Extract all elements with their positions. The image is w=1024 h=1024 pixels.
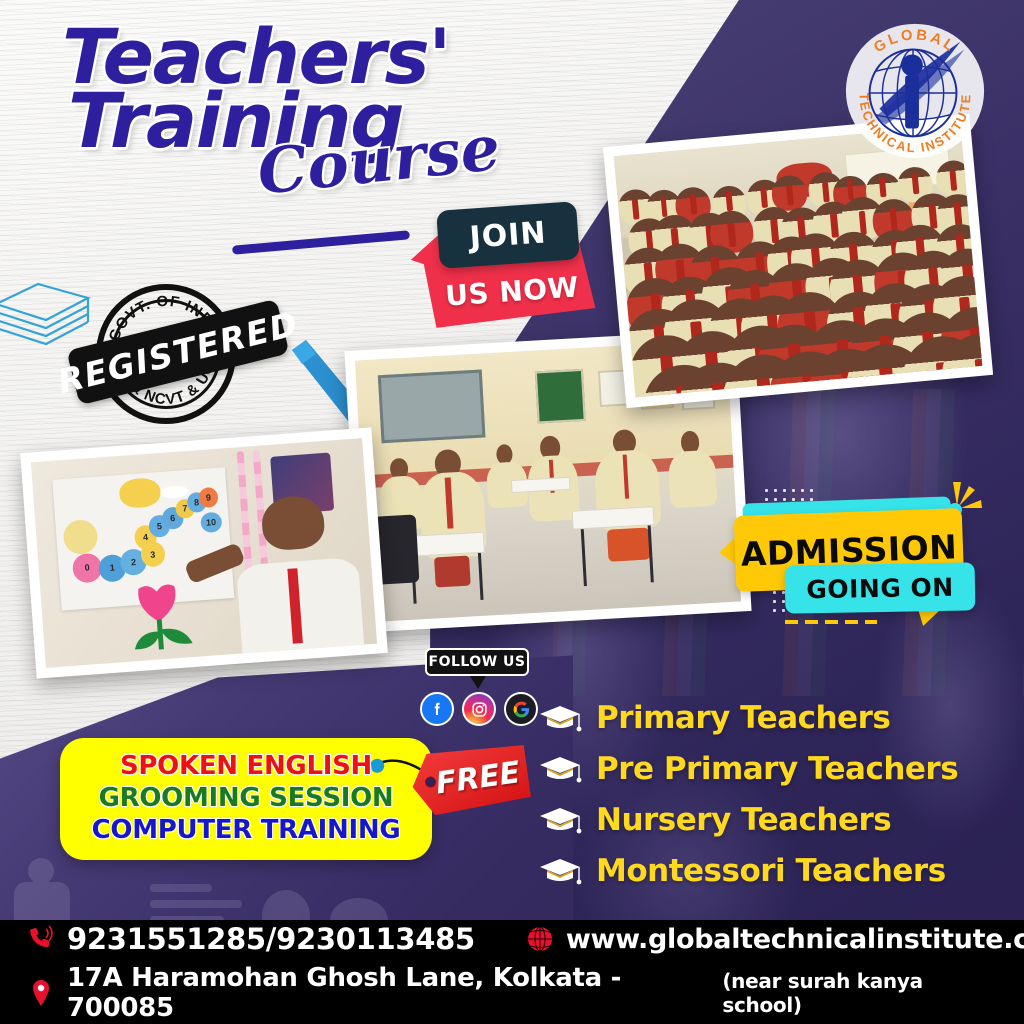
- registered-stamp: GOVT. OF INDIA BSS & NCVT & UGC REGISTER…: [74, 278, 286, 428]
- join-bubble: JOIN: [436, 201, 580, 269]
- graduation-cap-icon: [538, 754, 582, 784]
- footer-address: 17A Haramohan Ghosh Lane, Kolkata - 7000…: [67, 963, 711, 1023]
- course-label-nursery: Nursery Teachers: [596, 802, 891, 838]
- graduation-cap-icon: [538, 856, 582, 886]
- course-label-primary: Primary Teachers: [596, 700, 890, 736]
- course-item-primary: Primary Teachers: [538, 692, 998, 743]
- course-list: Primary Teachers Pre Primary Teachers Nu…: [538, 692, 998, 896]
- montessori-photo-image: 0 1 2 3 4 5 6 7 8 9 10: [31, 438, 377, 668]
- join-now-ribbon: US NOW: [430, 258, 593, 323]
- globe-icon: [525, 924, 555, 954]
- paper-tulip-decor: [126, 579, 201, 658]
- location-pin-icon: [26, 978, 56, 1008]
- phone-icon: [26, 924, 56, 954]
- footer-phone[interactable]: 9231551285/9230113485: [67, 922, 475, 956]
- follow-us-block: FOLLOW US: [420, 648, 540, 732]
- graduation-cap-icon: [538, 805, 582, 835]
- graduation-cap-icon: [538, 703, 582, 733]
- facebook-icon[interactable]: [420, 692, 454, 726]
- poster-title: Teachers' Training Course: [62, 22, 582, 209]
- footer-contact-bar: 9231551285/9230113485 www.globaltechnica…: [0, 920, 1024, 1024]
- follow-us-label: FOLLOW US: [429, 654, 526, 670]
- course-item-pre-primary: Pre Primary Teachers: [538, 743, 998, 794]
- footer-row-address: 17A Haramohan Ghosh Lane, Kolkata - 7000…: [26, 963, 998, 1023]
- going-on-label: GOING ON: [806, 572, 954, 604]
- course-item-nursery: Nursery Teachers: [538, 794, 998, 845]
- footer-address-note: (near surah kanya school): [722, 969, 998, 1017]
- course-label-pre-primary: Pre Primary Teachers: [596, 751, 958, 787]
- google-icon[interactable]: [504, 692, 538, 726]
- join-us-now-badge[interactable]: JOIN US NOW: [424, 206, 604, 338]
- going-on-tag: GOING ON: [785, 562, 976, 613]
- teacher-figure: [223, 488, 367, 654]
- admission-badge[interactable]: ADMISSION GOING ON: [735, 486, 987, 622]
- offer-grooming-session: GROOMING SESSION: [99, 783, 394, 815]
- follow-us-bubble: FOLLOW US: [425, 648, 529, 676]
- poster-root: GLOBAL TECHNICAL INSTITUTE Teachers' Tra…: [0, 0, 1024, 1024]
- montessori-photo: 0 1 2 3 4 5 6 7 8 9 10: [20, 427, 388, 678]
- course-item-montessori: Montessori Teachers: [538, 845, 998, 896]
- follow-bubble-tail: [470, 676, 486, 689]
- join-label: JOIN: [468, 215, 547, 255]
- course-label-montessori: Montessori Teachers: [596, 853, 946, 889]
- join-now-label: US NOW: [444, 270, 580, 312]
- offer-computer-training: COMPUTER TRAINING: [92, 815, 401, 847]
- dash-decor: [785, 620, 877, 624]
- instagram-icon[interactable]: [462, 692, 496, 726]
- global-technical-institute-logo: GLOBAL TECHNICAL INSTITUTE: [836, 14, 994, 166]
- footer-row-primary: 9231551285/9230113485 www.globaltechnica…: [26, 921, 998, 957]
- footer-website[interactable]: www.globaltechnicalinstitute.com: [566, 924, 1024, 955]
- social-icons-row: [420, 692, 538, 726]
- offer-spoken-english: SPOKEN ENGLISH: [120, 751, 372, 783]
